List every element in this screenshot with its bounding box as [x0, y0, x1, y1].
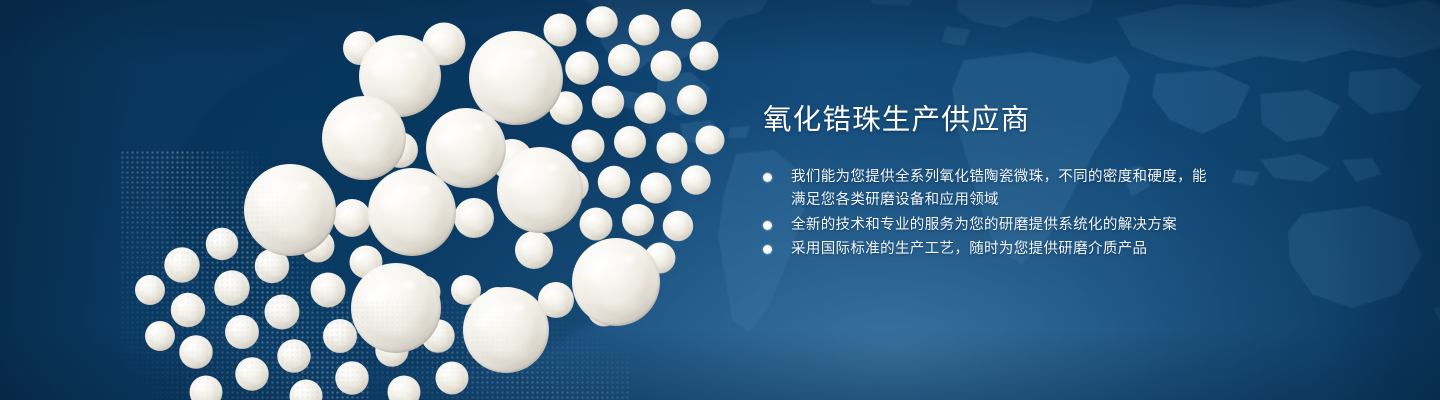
list-item-label: 采用国际标准的生产工艺，随时为您提供研磨介质产品: [791, 241, 1147, 257]
banner-copy: 氧化锆珠生产供应商 我们能为您提供全系列氧化锆陶瓷微珠，不同的密度和硬度，能满足…: [763, 104, 1383, 263]
list-item: 采用国际标准的生产工艺，随时为您提供研磨介质产品: [763, 238, 1221, 262]
bullet-dot-icon: [763, 173, 772, 182]
list-item-label: 我们能为您提供全系列氧化锆陶瓷微珠，不同的密度和硬度，能满足您各类研磨设备和应用…: [791, 169, 1207, 209]
list-item: 我们能为您提供全系列氧化锆陶瓷微珠，不同的密度和硬度，能满足您各类研磨设备和应用…: [763, 166, 1221, 213]
banner-title: 氧化锆珠生产供应商: [763, 104, 1383, 138]
bullet-dot-icon: [763, 245, 772, 254]
list-item: 全新的技术和专业的服务为您的研磨提供系统化的解决方案: [763, 214, 1221, 238]
banner-feature-list: 我们能为您提供全系列氧化锆陶瓷微珠，不同的密度和硬度，能满足您各类研磨设备和应用…: [763, 166, 1383, 262]
list-item-label: 全新的技术和专业的服务为您的研磨提供系统化的解决方案: [791, 217, 1177, 233]
bullet-dot-icon: [763, 221, 772, 230]
zirconia-bead-cluster-image: [0, 0, 760, 400]
hero-banner: 氧化锆珠生产供应商 我们能为您提供全系列氧化锆陶瓷微珠，不同的密度和硬度，能满足…: [0, 0, 1440, 400]
